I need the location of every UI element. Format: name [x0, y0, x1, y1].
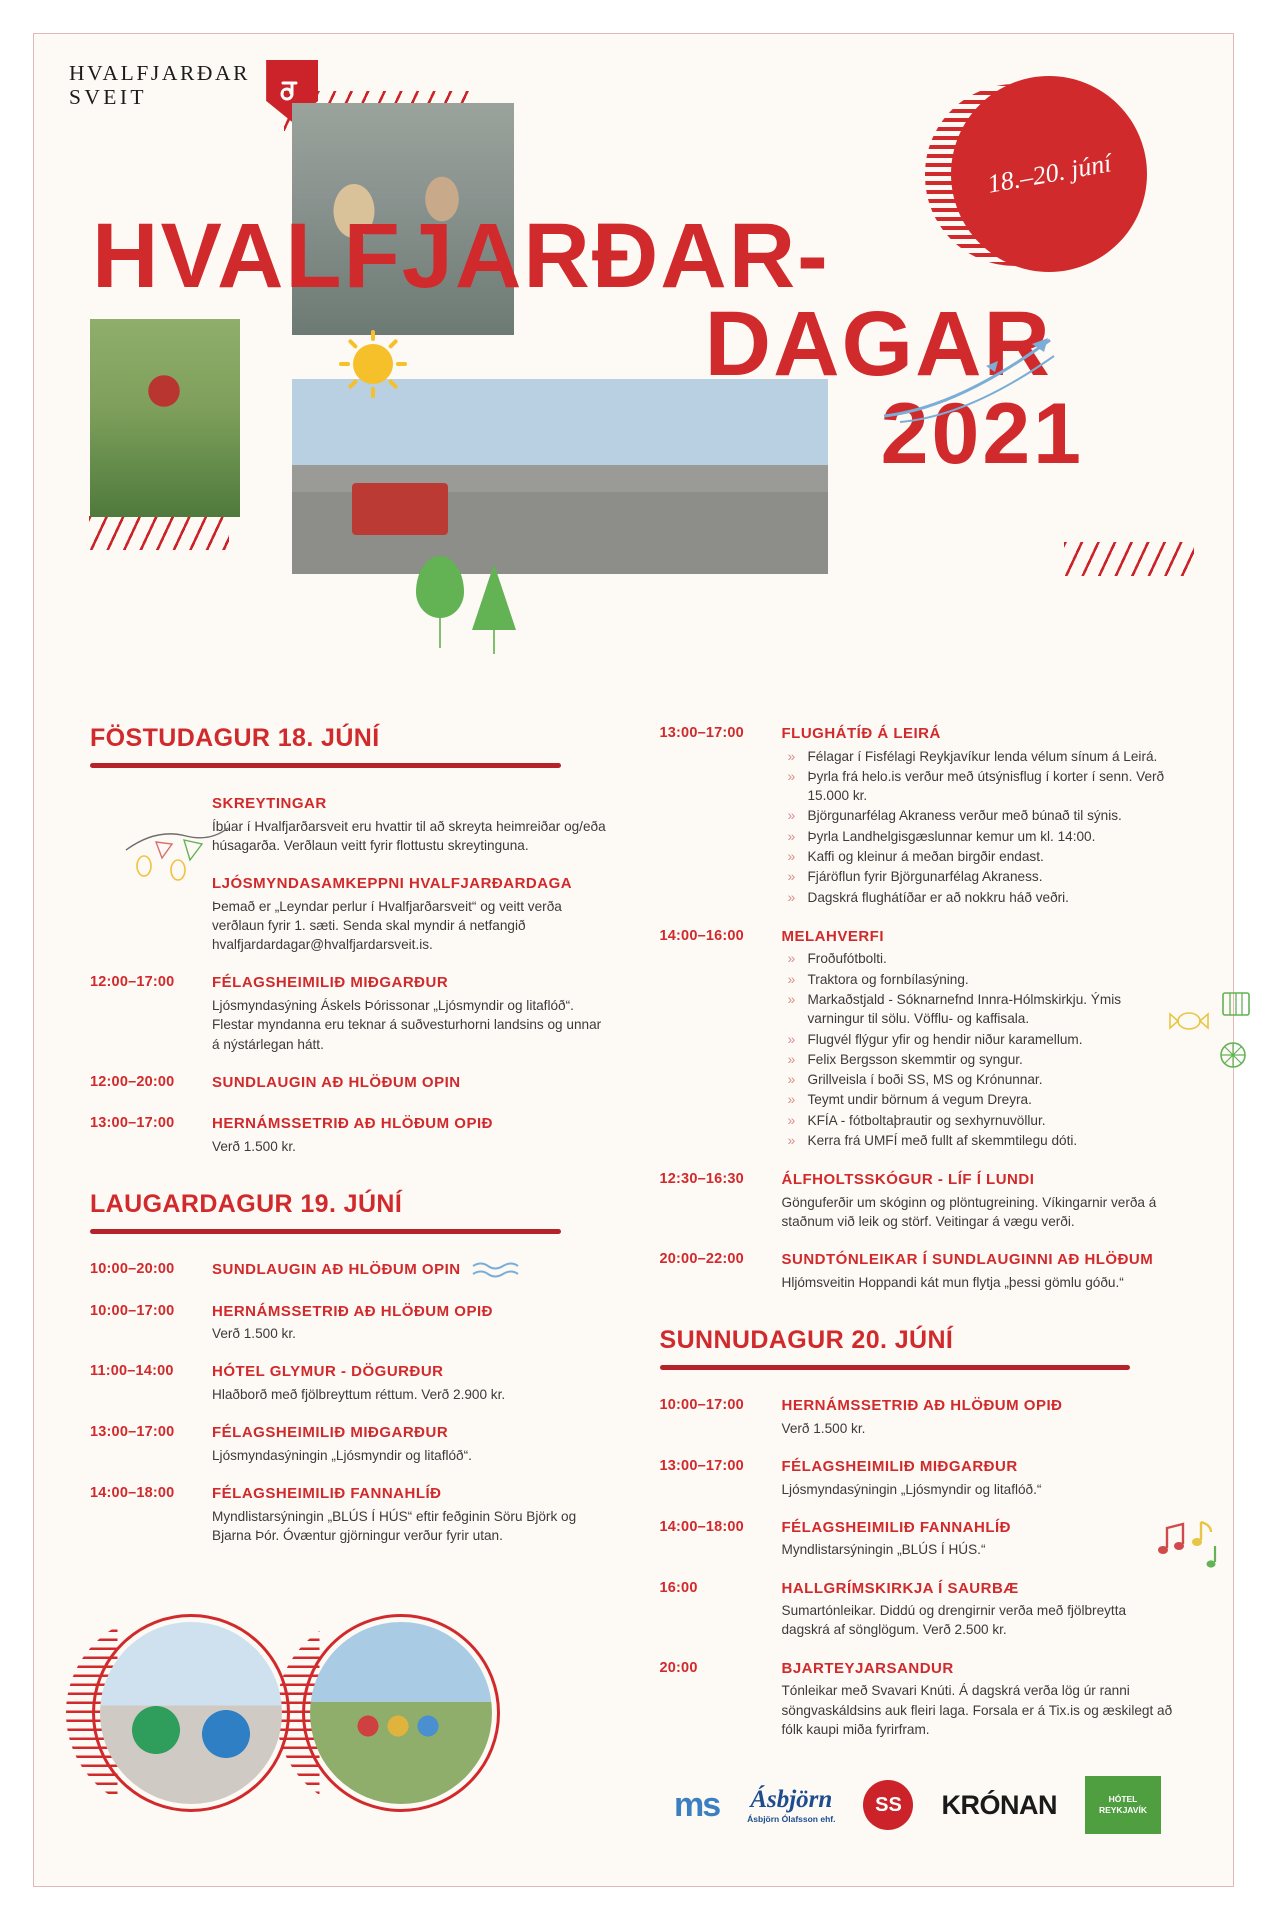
event-title: ÁLFHOLTSSKÓGUR - LÍF Í LUNDI — [782, 1170, 1178, 1190]
date-badge-label: 18.–20. júní — [985, 148, 1113, 199]
photo-ring-right — [302, 1614, 500, 1812]
sponsor-hotel-sub: REYKJAVÍK — [1099, 1805, 1147, 1816]
sponsor-row: ms Ásbjörn Ásbjörn Ólafsson ehf. SS KRÓN… — [674, 1776, 1161, 1834]
bullet-item: Dagskrá flughátíðar er að nokkru háð veð… — [782, 888, 1178, 907]
event-row: 13:00–17:00 FLUGHÁTÍÐ Á LEIRÁ Félagar í … — [660, 724, 1178, 908]
event-title: HALLGRÍMSKIRKJA Í SAURBÆ — [782, 1579, 1178, 1599]
brand-line-1: HVALFJARÐAR — [69, 61, 250, 85]
event-time: 11:00–14:00 — [90, 1362, 212, 1404]
event-desc: Ljósmyndasýning Áskels Þórissonar „Ljósm… — [212, 996, 608, 1054]
event-time: 10:00–17:00 — [660, 1396, 782, 1438]
event-desc: Sumartónleikar. Diddú og drengirnir verð… — [782, 1601, 1178, 1640]
event-title: SKREYTINGAR — [212, 794, 608, 814]
bullet-item: Flugvél flýgur yfir og hendir niður kara… — [782, 1030, 1178, 1049]
poster-header: HVALFJARÐAR SVEIT HVALFJARÐAR- DAGAR 202… — [34, 34, 1233, 724]
event-title: HERNÁMSSETRIÐ AÐ HLÖÐUM OPIÐ — [782, 1396, 1178, 1416]
event-row: 12:00–20:00 SUNDLAUGIN AÐ HLÖÐUM OPIN — [90, 1073, 608, 1096]
event-desc: Ljósmyndasýningin „Ljósmyndir og litafló… — [212, 1446, 608, 1465]
schedule-column-right: 13:00–17:00 FLUGHÁTÍÐ Á LEIRÁ Félagar í … — [634, 724, 1204, 1773]
event-time: 14:00–18:00 — [660, 1518, 782, 1560]
sponsor-asbjorn-sub: Ásbjörn Ólafsson ehf. — [747, 1814, 835, 1824]
event-title: FÉLAGSHEIMILIÐ MIÐGARÐUR — [212, 973, 608, 993]
event-time: 13:00–17:00 — [660, 724, 782, 908]
bullet-item: Traktora og fornbílasýning. — [782, 970, 1178, 989]
poster-canvas: HVALFJARÐAR SVEIT HVALFJARÐAR- DAGAR 202… — [33, 33, 1234, 1887]
event-time: 20:00–22:00 — [660, 1250, 782, 1292]
event-row: 16:00 HALLGRÍMSKIRKJA Í SAURBÆ Sumartónl… — [660, 1579, 1178, 1640]
music-notes-icon — [1157, 1514, 1223, 1581]
event-row: 20:00–22:00 SUNDTÓNLEIKAR Í SUNDLAUGINNI… — [660, 1250, 1178, 1292]
tree-pine-icon — [472, 564, 516, 654]
event-bullet-list: Froðufótbolti. Traktora og fornbílasýnin… — [782, 949, 1178, 1150]
waves-icon — [471, 1260, 531, 1280]
event-title: BJARTEYJARSANDUR — [782, 1659, 1178, 1679]
day-heading: SUNNUDAGUR 20. JÚNÍ — [660, 1326, 1178, 1355]
event-time: 10:00–20:00 — [90, 1260, 212, 1283]
event-row: 13:00–17:00 HERNÁMSSETRIÐ AÐ HLÖÐUM OPIÐ… — [90, 1114, 608, 1156]
bullet-item: Froðufótbolti. — [782, 949, 1178, 968]
event-row: 10:00–20:00 SUNDLAUGIN AÐ HLÖÐUM OPIN — [90, 1260, 608, 1283]
garland-lights-icon — [122, 820, 232, 897]
citrus-slice-icon — [1217, 1039, 1249, 1076]
bullet-item: Þyrla Landhelgisgæslunnar kemur um kl. 1… — [782, 827, 1178, 846]
airplane-trail-icon — [882, 334, 1062, 424]
event-desc: Hljómsveitin Hoppandi kát mun flytja „þe… — [782, 1273, 1178, 1292]
event-time: 14:00–16:00 — [660, 927, 782, 1151]
event-row: 13:00–17:00 FÉLAGSHEIMILIÐ MIÐGARÐUR Ljó… — [90, 1423, 608, 1465]
photo-ring-left — [92, 1614, 290, 1812]
bullet-item: KFÍA - fótboltaþrautir og sexhyrnuvöllur… — [782, 1111, 1178, 1130]
bullet-item: Fjáröflun fyrir Björgunarfélag Akraness. — [782, 867, 1178, 886]
event-time: 12:00–17:00 — [90, 973, 212, 1053]
event-row: 12:30–16:30 ÁLFHOLTSSKÓGUR - LÍF Í LUNDI… — [660, 1170, 1178, 1231]
tree-leaf-icon — [416, 556, 464, 648]
event-title: LJÓSMYNDASAMKEPPNI HVALFJARÐARDAGA — [212, 874, 608, 894]
event-time: 13:00–17:00 — [660, 1457, 782, 1499]
event-row: 10:00–17:00 HERNÁMSSETRIÐ AÐ HLÖÐUM OPIÐ… — [90, 1302, 608, 1344]
event-desc: Verð 1.500 kr. — [782, 1419, 1178, 1438]
event-bullet-list: Félagar í Fisfélagi Reykjavíkur lenda vé… — [782, 747, 1178, 907]
event-time: 10:00–17:00 — [90, 1302, 212, 1344]
event-row: 13:00–17:00 FÉLAGSHEIMILIÐ MIÐGARÐUR Ljó… — [660, 1457, 1178, 1499]
sun-icon — [339, 330, 407, 398]
event-desc: Tónleikar með Svavari Knúti. Á dagskrá v… — [782, 1681, 1178, 1739]
day-block-saturday-continued: 13:00–17:00 FLUGHÁTÍÐ Á LEIRÁ Félagar í … — [660, 724, 1178, 1292]
sponsor-asbjorn-logo: Ásbjörn Ásbjörn Ólafsson ehf. — [747, 1786, 835, 1824]
bullet-item: Grillveisla í boði SS, MS og Krónunnar. — [782, 1070, 1178, 1089]
bullet-item: Björgunarfélag Akraness verður með búnað… — [782, 806, 1178, 825]
bullet-item: Félagar í Fisfélagi Reykjavíkur lenda vé… — [782, 747, 1178, 766]
sponsor-ss-logo: SS — [863, 1780, 913, 1830]
event-time: 13:00–17:00 — [90, 1114, 212, 1156]
event-title: FÉLAGSHEIMILIÐ FANNAHLÍÐ — [782, 1518, 1178, 1538]
event-desc: Hlaðborð með fjölbreyttum réttum. Verð 2… — [212, 1385, 608, 1404]
sponsor-hotel-reykjavik-logo: HÓTEL REYKJAVÍK — [1085, 1776, 1161, 1834]
event-title: SUNDLAUGIN AÐ HLÖÐUM OPIN — [212, 1073, 608, 1093]
event-desc: Þemað er „Leyndar perlur í Hvalfjarðarsv… — [212, 897, 608, 955]
sponsor-asbjorn-name: Ásbjörn — [747, 1786, 835, 1814]
event-row: 10:00–17:00 HERNÁMSSETRIÐ AÐ HLÖÐUM OPIÐ… — [660, 1396, 1178, 1438]
day-block-friday: FÖSTUDAGUR 18. JÚNÍ SKREYTINGAR Íbúar í … — [90, 724, 608, 1156]
day-block-saturday: LAUGARDAGUR 19. JÚNÍ 10:00–20:00 SUNDLAU… — [90, 1190, 608, 1545]
sponsor-hotel-name: HÓTEL — [1109, 1794, 1138, 1805]
bullet-item: Markaðstjald - Sóknarnefnd Innra-Hólmski… — [782, 990, 1178, 1029]
event-desc: Verð 1.500 kr. — [212, 1324, 608, 1343]
event-title: HERNÁMSSETRIÐ AÐ HLÖÐUM OPIÐ — [212, 1114, 608, 1134]
candy-icon — [1167, 1003, 1211, 1042]
event-time: 14:00–18:00 — [90, 1484, 212, 1545]
hatch-decoration-right — [1064, 542, 1194, 576]
date-badge: 18.–20. júní — [951, 76, 1147, 272]
sponsor-ms-logo: ms — [674, 1786, 719, 1825]
event-row: 14:00–18:00 FÉLAGSHEIMILIÐ FANNAHLÍÐ Myn… — [660, 1518, 1178, 1560]
bullet-item: Teymt undir börnum á vegum Dreyra. — [782, 1090, 1178, 1109]
event-desc: Íbúar í Hvalfjarðarsveit eru hvattir til… — [212, 817, 608, 856]
event-row: 12:00–17:00 FÉLAGSHEIMILIÐ MIÐGARÐUR Ljó… — [90, 973, 608, 1053]
bullet-item: Kerra frá UMFÍ með fullt af skemmtilegu … — [782, 1131, 1178, 1150]
event-time: 12:30–16:30 — [660, 1170, 782, 1231]
event-title: MELAHVERFI — [782, 927, 1178, 947]
bullet-item: Felix Bergsson skemmtir og syngur. — [782, 1050, 1178, 1069]
event-title: SUNDTÓNLEIKAR Í SUNDLAUGINNI AÐ HLÖÐUM — [782, 1250, 1178, 1270]
schedule-column-left: FÖSTUDAGUR 18. JÚNÍ SKREYTINGAR Íbúar í … — [64, 724, 634, 1773]
event-title: FÉLAGSHEIMILIÐ FANNAHLÍÐ — [212, 1484, 608, 1504]
event-title: HERNÁMSSETRIÐ AÐ HLÖÐUM OPIÐ — [212, 1302, 608, 1322]
day-heading: FÖSTUDAGUR 18. JÚNÍ — [90, 724, 608, 753]
event-title: FÉLAGSHEIMILIÐ MIÐGARÐUR — [782, 1457, 1178, 1477]
bullet-item: Kaffi og kleinur á meðan birgðir endast. — [782, 847, 1178, 866]
event-title: SUNDLAUGIN AÐ HLÖÐUM OPIN — [212, 1260, 461, 1280]
event-time: 20:00 — [660, 1659, 782, 1739]
brand-line-2: SVEIT — [69, 85, 250, 109]
event-desc: Gönguferðir um skóginn og plöntugreining… — [782, 1193, 1178, 1232]
day-rule — [90, 763, 561, 768]
event-time: 13:00–17:00 — [90, 1423, 212, 1465]
event-row: 14:00–18:00 FÉLAGSHEIMILIÐ FANNAHLÍÐ Myn… — [90, 1484, 608, 1545]
event-time: 16:00 — [660, 1579, 782, 1640]
day-block-sunday: SUNNUDAGUR 20. JÚNÍ 10:00–17:00 HERNÁMSS… — [660, 1326, 1178, 1739]
hatch-decoration-left — [89, 516, 229, 550]
municipality-logo: HVALFJARÐAR SVEIT — [69, 56, 318, 122]
event-title: FÉLAGSHEIMILIÐ MIÐGARÐUR — [212, 1423, 608, 1443]
bullet-item: Þyrla frá helo.is verður með útsýnisflug… — [782, 767, 1178, 806]
sponsor-kronan-logo: KRÓNAN — [941, 1790, 1057, 1821]
event-row: 14:00–16:00 MELAHVERFI Froðufótbolti. Tr… — [660, 927, 1178, 1151]
day-rule — [660, 1365, 1131, 1370]
event-time: 12:00–20:00 — [90, 1073, 212, 1096]
event-row: 11:00–14:00 HÓTEL GLYMUR - DÖGURÐUR Hlað… — [90, 1362, 608, 1404]
day-heading: LAUGARDAGUR 19. JÚNÍ — [90, 1190, 608, 1219]
book-icon — [1219, 989, 1253, 1024]
day-rule — [90, 1229, 561, 1234]
event-desc: Myndlistarsýningin „BLÚS Í HÚS“ eftir fe… — [212, 1507, 608, 1546]
event-row: 20:00 BJARTEYJARSANDUR Tónleikar með Sva… — [660, 1659, 1178, 1739]
event-desc: Myndlistarsýningin „BLÚS Í HÚS.“ — [782, 1540, 1178, 1559]
event-title: HÓTEL GLYMUR - DÖGURÐUR — [212, 1362, 608, 1382]
brand-wordmark: HVALFJARÐAR SVEIT — [69, 56, 250, 109]
event-title: FLUGHÁTÍÐ Á LEIRÁ — [782, 724, 1178, 744]
event-desc: Verð 1.500 kr. — [212, 1137, 608, 1156]
event-desc: Ljósmyndasýningin „Ljósmyndir og litafló… — [782, 1480, 1178, 1499]
